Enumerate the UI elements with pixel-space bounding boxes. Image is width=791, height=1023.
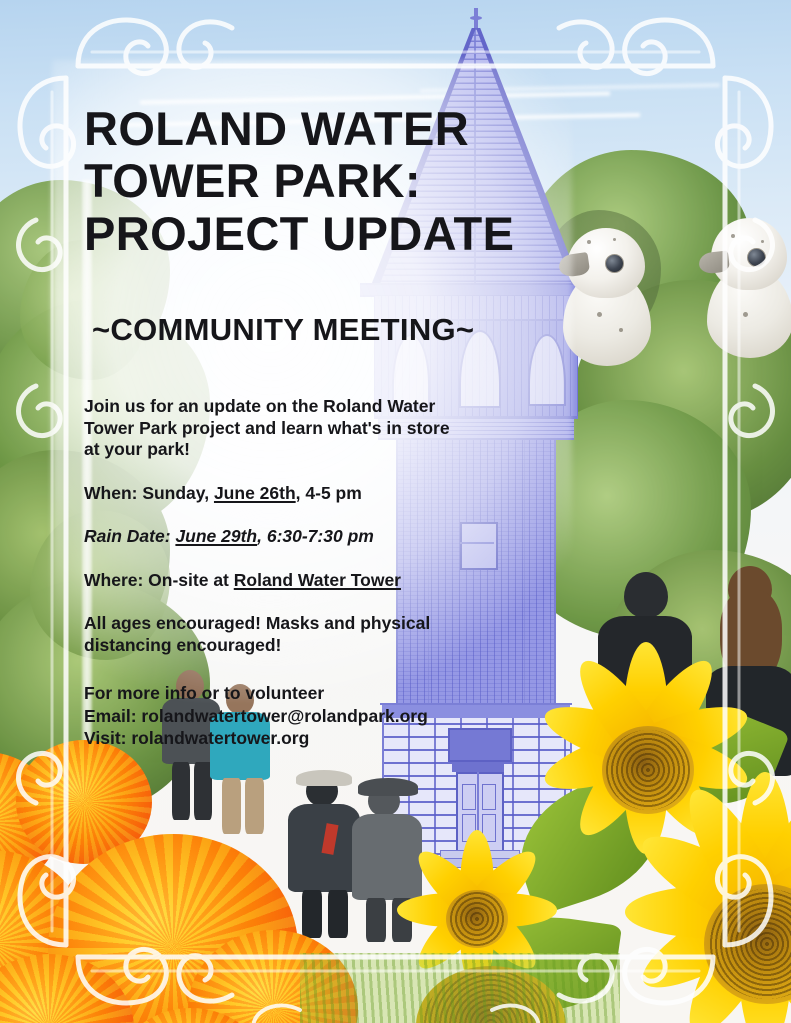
intro-line-2: Tower Park project and learn what's in s… (84, 418, 450, 438)
notice-line-1: All ages encouraged! Masks and physical (84, 613, 430, 633)
where-place: Roland Water Tower (234, 570, 401, 590)
poster-copy: ROLAND WATER TOWER PARK: PROJECT UPDATE … (84, 103, 554, 749)
title-line-3: PROJECT UPDATE (84, 207, 514, 260)
peregrine-falcon-chick-right (695, 218, 791, 358)
where-line: Where: On-site at Roland Water Tower (84, 570, 554, 592)
rain-date-value: June 29th (175, 526, 257, 546)
notice-paragraph: All ages encouraged! Masks and physical … (84, 613, 554, 656)
grass-strip (300, 953, 620, 1023)
intro-line-3: at your park! (84, 439, 190, 459)
where-prefix: Where: On-site at (84, 570, 234, 590)
when-date: June 26th (214, 483, 296, 503)
rain-date-suffix: , 6:30-7:30 pm (257, 526, 374, 546)
subtitle: ~COMMUNITY MEETING~ (92, 312, 554, 348)
intro-line-1: Join us for an update on the Roland Wate… (84, 396, 435, 416)
when-suffix: , 4-5 pm (296, 483, 362, 503)
rain-date-prefix: Rain Date: (84, 526, 175, 546)
contact-website[interactable]: Visit: rolandwatertower.org (84, 728, 309, 748)
contact-email[interactable]: Email: rolandwatertower@rolandpark.org (84, 706, 428, 726)
title-line-1: ROLAND WATER (84, 102, 469, 155)
rain-date-line: Rain Date: June 29th, 6:30-7:30 pm (84, 526, 554, 548)
title-line-2: TOWER PARK: (84, 154, 421, 207)
intro-paragraph: Join us for an update on the Roland Wate… (84, 396, 554, 461)
when-prefix: When: Sunday, (84, 483, 214, 503)
when-line: When: Sunday, June 26th, 4-5 pm (84, 483, 554, 505)
contact-heading: For more info or to volunteer (84, 683, 324, 703)
page-title: ROLAND WATER TOWER PARK: PROJECT UPDATE (84, 103, 554, 260)
notice-line-2: distancing encouraged! (84, 635, 281, 655)
contact-block: For more info or to volunteer Email: rol… (84, 682, 554, 749)
poster-canvas: ROLAND WATER TOWER PARK: PROJECT UPDATE … (0, 0, 791, 1023)
peregrine-falcon-chick-left (557, 226, 667, 366)
